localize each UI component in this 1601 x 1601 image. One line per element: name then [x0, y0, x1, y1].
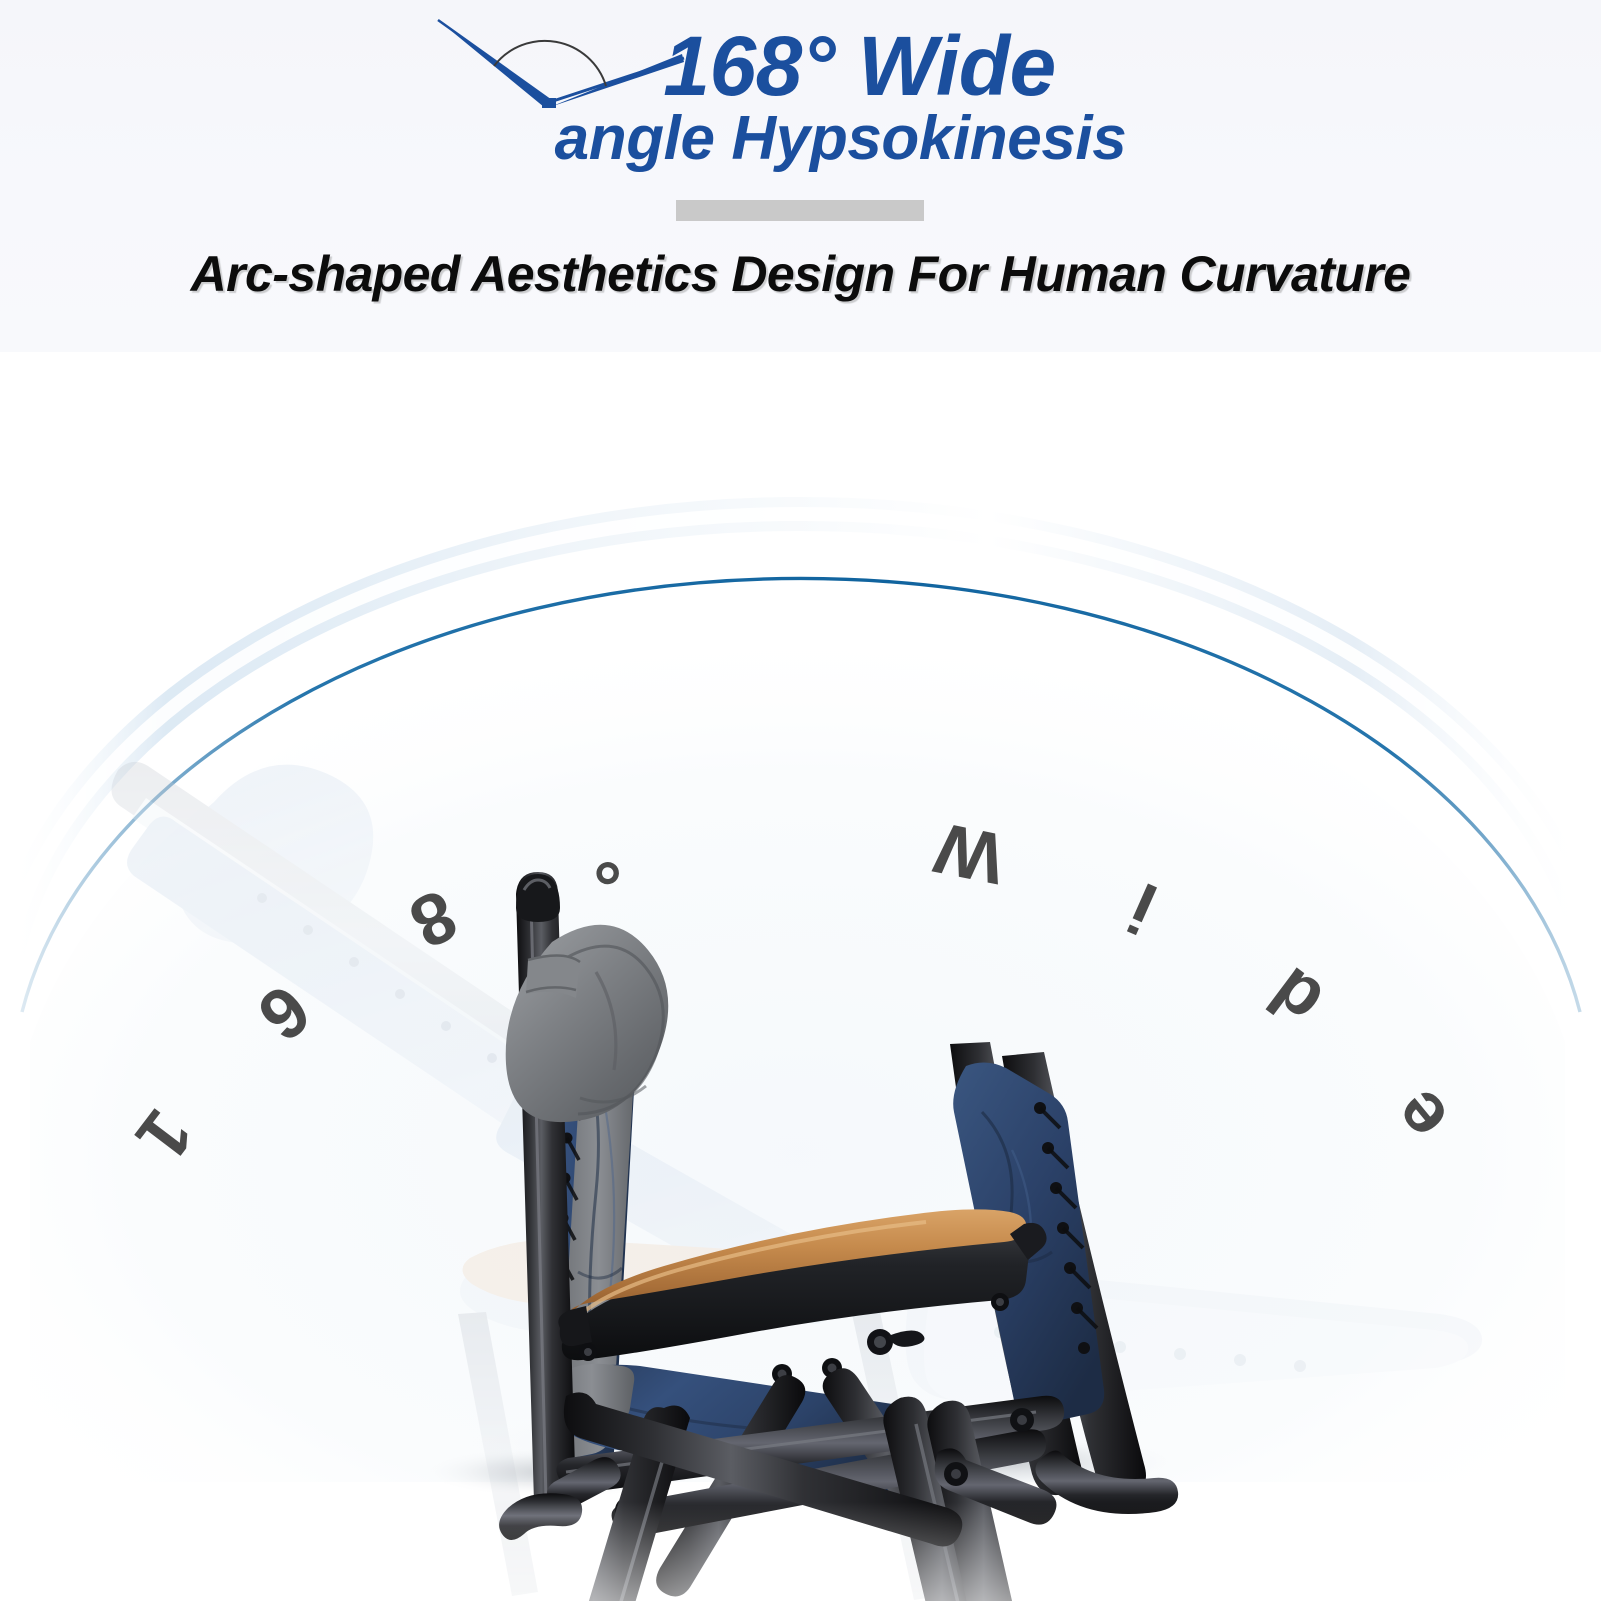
infographic-canvas: 168° Wide angle Hypsokinesis Arc-shaped … [0, 0, 1601, 1601]
scene-vignette [0, 352, 1601, 1601]
product-scene: 168° Wide [0, 352, 1601, 1601]
header-banner: 168° Wide angle Hypsokinesis Arc-shaped … [0, 0, 1601, 352]
tagline-text: Arc-shaped Aesthetics Design For Human C… [0, 245, 1601, 303]
page-title: 168° Wide [0, 26, 1601, 107]
gray-divider-bar [676, 200, 924, 221]
page-subtitle: angle Hypsokinesis [0, 108, 1601, 170]
